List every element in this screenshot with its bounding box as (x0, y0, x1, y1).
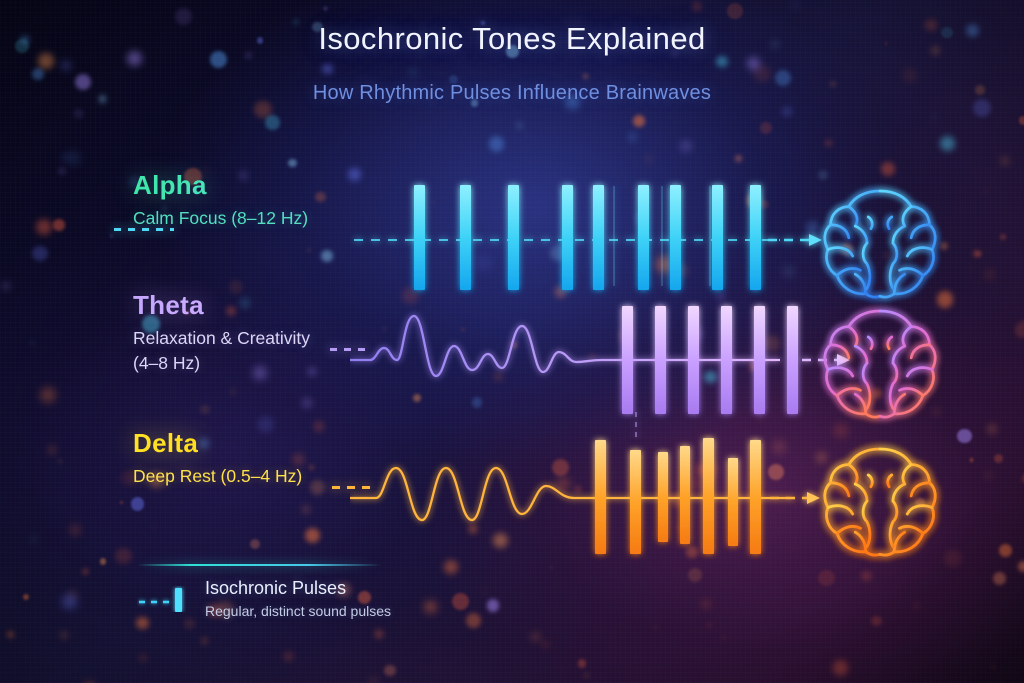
dashed-line-pulse-icon (137, 586, 193, 612)
dashed-arrow-icon-alpha (768, 234, 822, 246)
label-connector-delta (332, 486, 372, 489)
wave-line-theta (350, 316, 780, 376)
row-theta: Theta Relaxation & Creativity (4–8 Hz) (0, 290, 1024, 440)
infographic-canvas: Isochronic Tones Explained How Rhythmic … (0, 0, 1024, 683)
page-subtitle: How Rhythmic Pulses Influence Brainwaves (0, 82, 1024, 105)
legend-text: Isochronic Pulses Regular, distinct soun… (205, 578, 391, 619)
label-connector-theta (330, 348, 372, 351)
legend: Isochronic Pulses Regular, distinct soun… (137, 578, 557, 638)
page-title: Isochronic Tones Explained (0, 21, 1024, 57)
waveform-delta (350, 428, 870, 578)
brain-icon-alpha (815, 178, 945, 308)
legend-divider (137, 564, 382, 566)
square-wave-ghost-alpha (422, 186, 758, 286)
label-connector-alpha (114, 228, 174, 231)
wave-line-delta (350, 468, 790, 520)
legend-subtitle: Regular, distinct sound pulses (205, 603, 391, 619)
brain-icon-theta (815, 298, 945, 428)
pulse-bars-delta (595, 438, 761, 554)
waveform-theta (350, 290, 870, 440)
brain-icon-delta (815, 436, 945, 566)
row-delta: Delta Deep Rest (0.5–4 Hz) (0, 428, 1024, 578)
dashed-arrow-icon-delta (770, 492, 820, 504)
pulse-bars-alpha (414, 185, 761, 290)
legend-title: Isochronic Pulses (205, 578, 391, 599)
